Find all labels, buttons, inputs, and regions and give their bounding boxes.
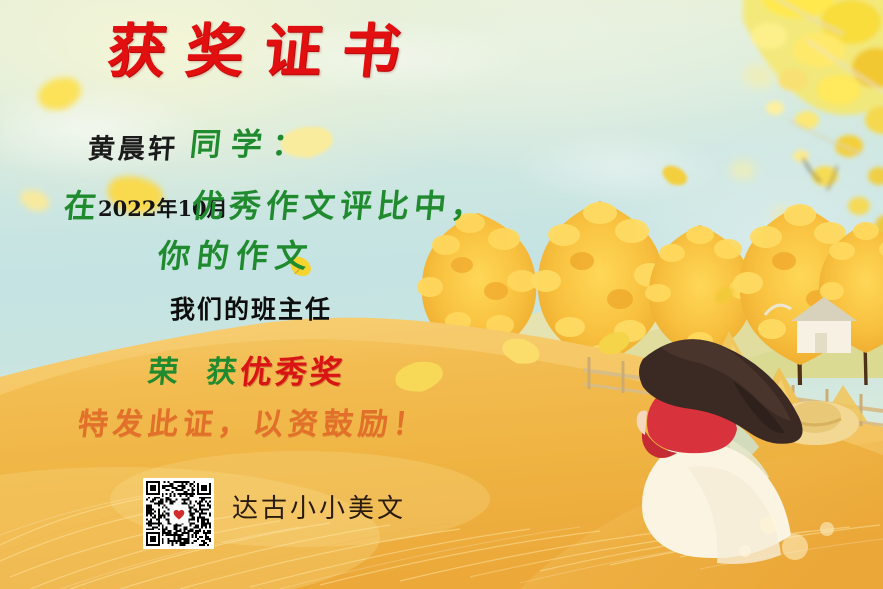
- body-prefix: 在: [62, 190, 97, 222]
- farmhouse-icon: [765, 297, 857, 353]
- page-title: 获奖证书: [105, 22, 423, 80]
- award-name: 优秀奖: [238, 356, 346, 388]
- qr-code-icon[interactable]: [143, 478, 214, 549]
- qr-code-canvas: [146, 481, 211, 546]
- recipient-name: 黄晨轩: [87, 136, 179, 163]
- footer-text: 特发此证，以资鼓励！: [76, 410, 429, 440]
- heart-icon: [169, 504, 188, 523]
- subject-line: 你的作文: [156, 240, 315, 272]
- recipient-suffix: 同学：: [188, 130, 314, 161]
- brand-name: 达古小小美文: [232, 496, 406, 522]
- teacher-line: 我们的班主任: [170, 297, 332, 322]
- contest-name: 优秀作文评比中，: [190, 190, 489, 222]
- certificate-canvas: 获奖证书 黄晨轩 同学： 在 2022年10月 优秀作文评比中， 你的作文 我们…: [0, 0, 883, 589]
- countryside-scene: [583, 289, 883, 589]
- award-verb: 荣 获: [146, 358, 247, 388]
